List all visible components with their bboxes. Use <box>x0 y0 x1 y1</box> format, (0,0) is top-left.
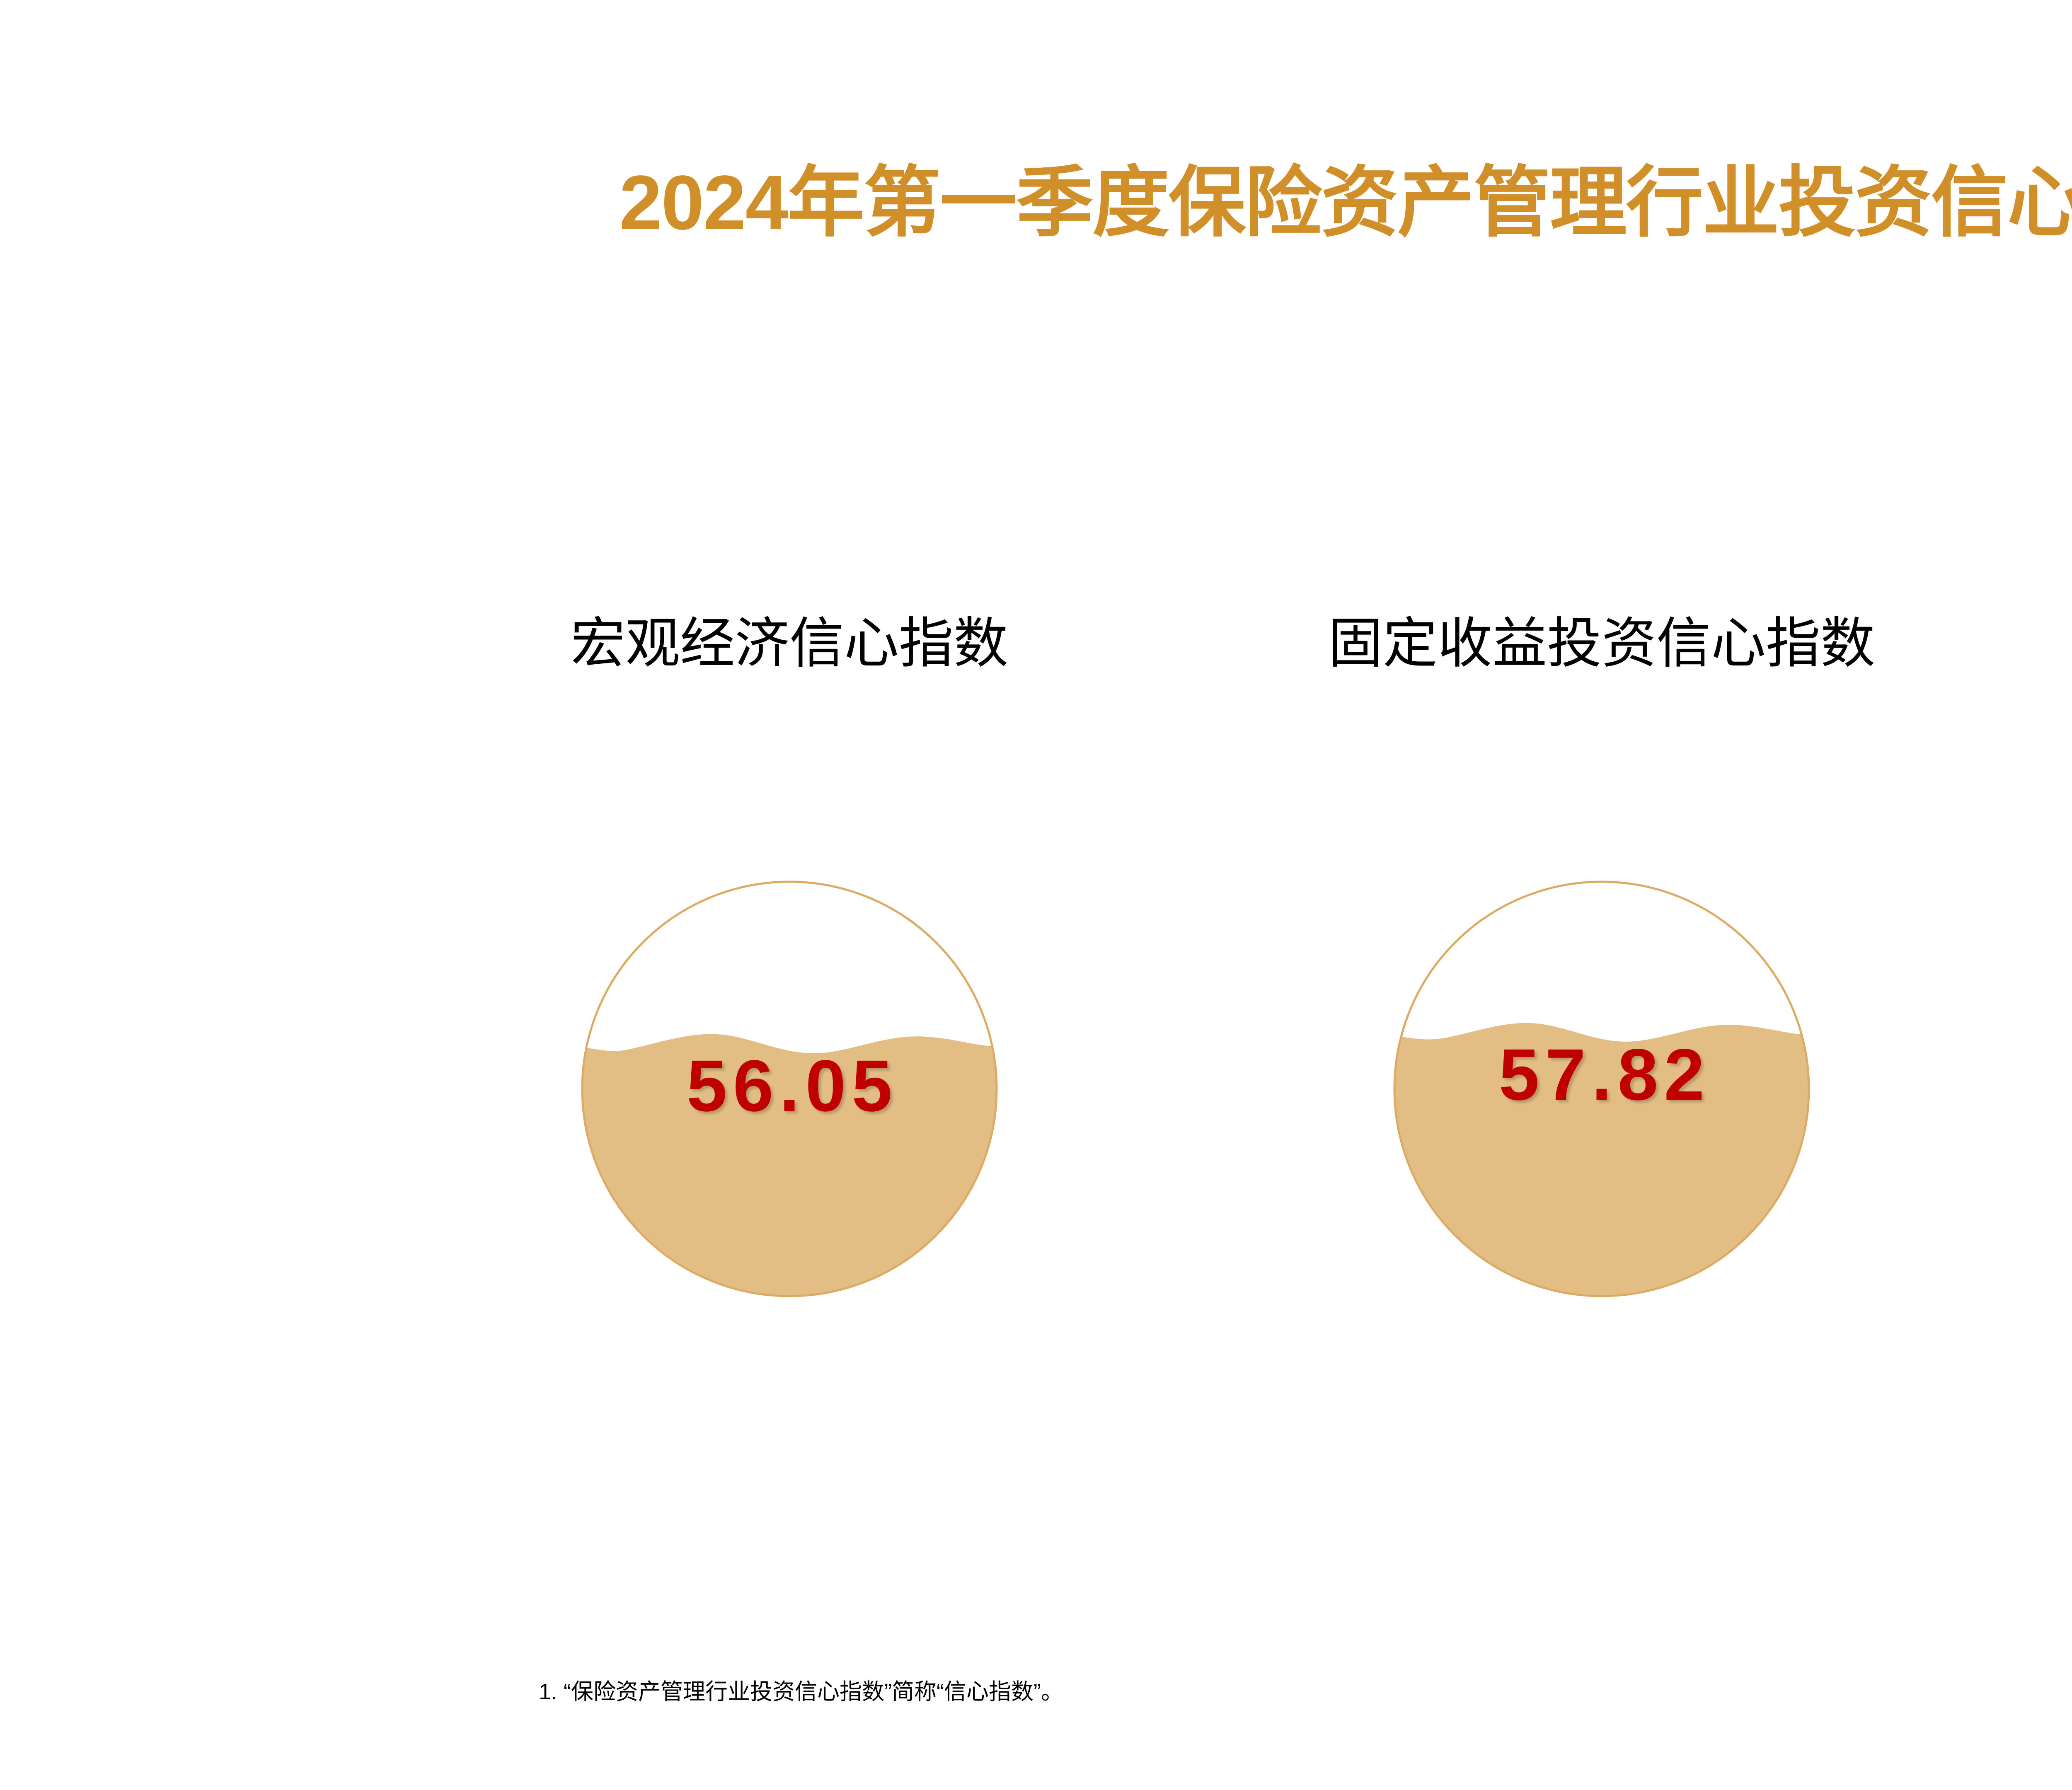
gauge-card-fixed-income: 固定收益投资信心指数 57.82 <box>1208 609 1995 1355</box>
gauge-row: 宏观经济信心指数 56.05 固定收益投资信心指数 <box>0 609 2072 1355</box>
liquid-fill-gauge: 57.82 <box>1374 861 1830 1317</box>
gauge-label: 宏观经济信心指数 <box>396 609 1183 677</box>
gauge-value: 56.05 <box>562 1050 1017 1122</box>
gauge-card-macro-economy: 宏观经济信心指数 56.05 <box>396 609 1183 1355</box>
liquid-fill-gauge: 56.05 <box>562 861 1017 1317</box>
gauge-card-equity: 权益投资信心指数 61.01 <box>2055 609 2072 1355</box>
page-title-main: 2024年第一季度保险资产管理行业投资信心指数 <box>619 160 2072 246</box>
footnote: 1. “保险资产管理行业投资信心指数”简称“信心指数”。 <box>539 1677 1063 1706</box>
gauge-label: 固定收益投资信心指数 <box>1208 609 1995 677</box>
gauge-label: 权益投资信心指数 <box>2055 609 2072 677</box>
page-title: 2024年第一季度保险资产管理行业投资信心指数1调查结果 <box>0 157 2072 248</box>
gauge-value: 57.82 <box>1374 1038 1830 1111</box>
